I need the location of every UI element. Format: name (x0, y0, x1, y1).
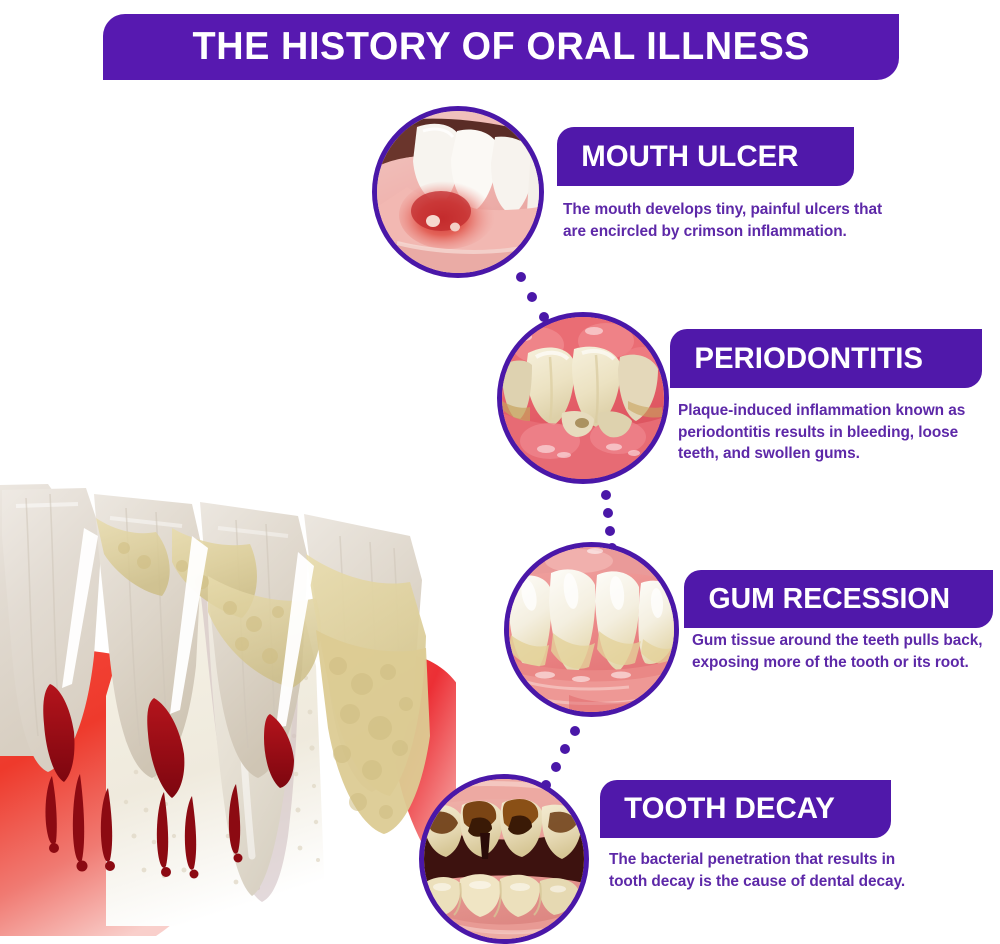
connector-dot (601, 490, 611, 500)
mouth-ulcer-photo[interactable] (372, 106, 544, 278)
card-description-gum-recession: Gum tissue around the teeth pulls back, … (692, 630, 998, 673)
page-title-banner: THE HISTORY OF ORAL ILLNESS (103, 14, 899, 80)
gum-recession-photo[interactable] (504, 542, 679, 717)
connector-dot (603, 508, 613, 518)
connector-dot (527, 292, 537, 302)
label-badge-mouth-ulcer: MOUTH ULCER (557, 127, 854, 186)
connector-dot (570, 726, 580, 736)
card-description-mouth-ulcer: The mouth develops tiny, painful ulcers … (563, 199, 893, 242)
tooth-decay-photo[interactable] (419, 774, 589, 944)
label-badge-gum-recession: GUM RECESSION (684, 570, 993, 628)
card-label: TOOTH DECAY (624, 792, 835, 826)
connector-dot (516, 272, 526, 282)
card-label: GUM RECESSION (708, 583, 950, 616)
connector-dot (605, 526, 615, 536)
connector-dot (560, 744, 570, 754)
label-badge-periodontitis: PERIODONTITIS (670, 329, 982, 388)
card-description-periodontitis: Plaque-induced inflammation known as per… (678, 400, 990, 465)
dental-cross-section-illustration (0, 236, 456, 938)
label-badge-tooth-decay: TOOTH DECAY (600, 780, 891, 838)
card-label: MOUTH ULCER (581, 140, 798, 174)
card-description-tooth-decay: The bacterial penetration that results i… (609, 849, 929, 892)
connector-dot (551, 762, 561, 772)
periodontitis-photo[interactable] (497, 312, 669, 484)
page-title: THE HISTORY OF ORAL ILLNESS (192, 25, 810, 69)
card-label: PERIODONTITIS (694, 342, 923, 376)
